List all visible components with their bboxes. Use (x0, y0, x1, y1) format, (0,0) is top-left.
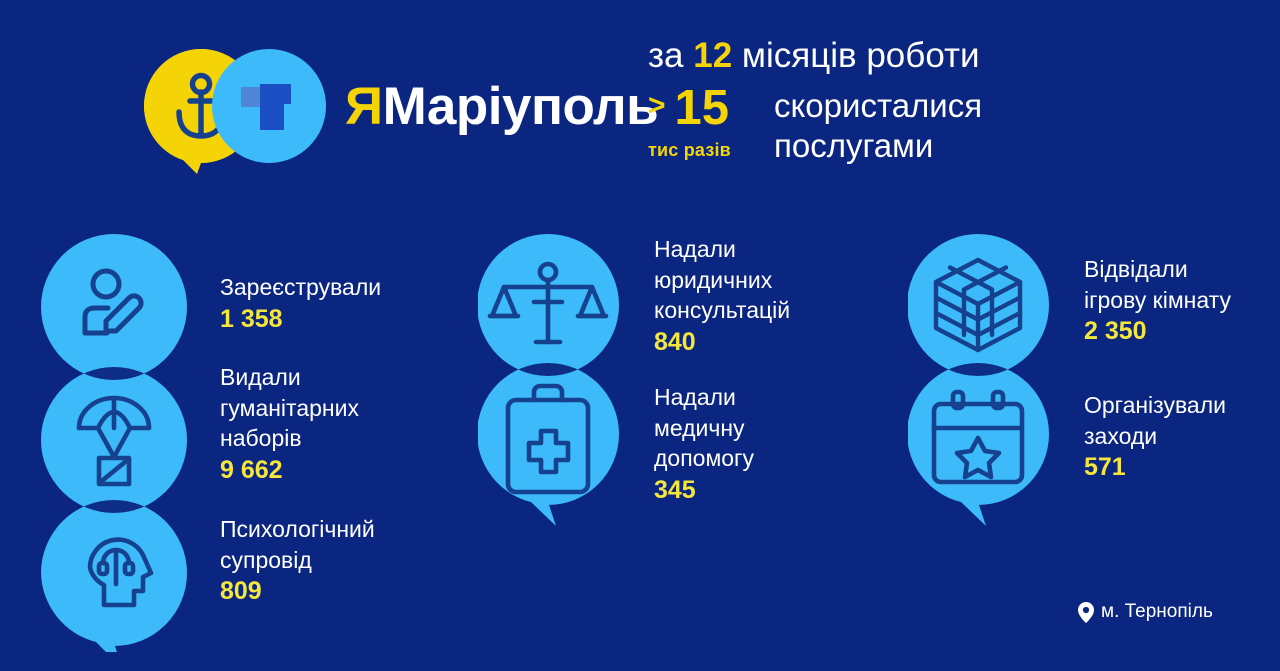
stat-item: Відвідали ігрову кімнату 2 350 (1084, 254, 1231, 347)
stat-label: супровід (220, 545, 375, 576)
stat-item: Психологічний супровід 809 (220, 514, 375, 607)
emblem-svg (140, 46, 330, 174)
bubble-stack-middle-svg (478, 232, 663, 532)
bubble-stack-middle (478, 232, 663, 537)
stat-value: 1 358 (220, 304, 381, 335)
stat-label: Надали (654, 234, 790, 265)
headline-usage-row: > 15 тис разів скористалися послугами (648, 84, 1068, 167)
stat-label: Психологічний (220, 514, 375, 545)
greater-than-icon: > (648, 91, 666, 121)
stat-label: Зареєстрували (220, 272, 381, 303)
bubble-right-2 (908, 363, 1049, 526)
stat-label: консультацій (654, 295, 790, 326)
headline-prefix: за (648, 36, 693, 75)
bubble-stack-right-svg (908, 232, 1093, 532)
usage-description-line2: послугами (774, 126, 982, 166)
stat-label: медичну (654, 413, 754, 444)
headline-block: за 12 місяців роботи > 15 тис разів скор… (648, 38, 1068, 166)
watertower-circle (212, 49, 326, 163)
location-city: м. Тернопіль (1101, 601, 1213, 623)
stat-label: юридичних (654, 265, 790, 296)
stat-label: заходи (1084, 421, 1226, 452)
stat-item: Видали гуманітарних наборів 9 662 (220, 362, 359, 486)
location-footer: м. Тернопіль (1078, 601, 1213, 623)
usage-count-block: > 15 тис разів (648, 84, 774, 161)
brand-wordmark: ЯМаріуполь (345, 80, 658, 133)
bubble-stack-left-svg (38, 232, 223, 652)
usage-description-line1: скористалися (774, 86, 982, 126)
stat-item: Організували заходи 571 (1084, 390, 1226, 483)
stat-item: Зареєстрували 1 358 (220, 272, 381, 335)
headline-suffix: місяців роботи (732, 36, 979, 75)
stat-value: 840 (654, 327, 790, 358)
usage-count: > 15 (648, 84, 774, 133)
stat-label: наборів (220, 423, 359, 454)
bubble-stack-left (38, 232, 223, 657)
headline-months-number: 12 (693, 36, 732, 75)
infographic-page: ЯМаріуполь за 12 місяців роботи > 15 тис… (0, 0, 1280, 671)
usage-unit: тис разів (648, 140, 774, 161)
stat-value: 9 662 (220, 455, 359, 486)
stat-label: Відвідали (1084, 254, 1231, 285)
stat-label: ігрову кімнату (1084, 285, 1231, 316)
bubble-left-2 (41, 367, 187, 513)
stat-label: Надали (654, 382, 754, 413)
stat-item: Надали медичну допомогу 345 (654, 382, 754, 506)
stat-label: допомогу (654, 443, 754, 474)
stat-value: 571 (1084, 452, 1226, 483)
bubble-stack-right (908, 232, 1093, 537)
stat-value: 2 350 (1084, 316, 1231, 347)
usage-number: 15 (675, 84, 730, 133)
usage-description: скористалися послугами (774, 84, 982, 167)
location-pin-icon (1078, 602, 1094, 623)
brand-name: Маріуполь (383, 77, 659, 136)
headline-period: за 12 місяців роботи (648, 38, 1068, 75)
yamariupol-emblem (140, 46, 330, 174)
stat-label: гуманітарних (220, 393, 359, 424)
brand-accent-letter: Я (345, 77, 383, 136)
stat-item: Надали юридичних консультацій 840 (654, 234, 790, 358)
stat-label: Організували (1084, 390, 1226, 421)
stat-label: Видали (220, 362, 359, 393)
bubble-left-1 (41, 234, 187, 380)
stat-value: 345 (654, 475, 754, 506)
brand-logo: ЯМаріуполь (140, 46, 610, 174)
stat-value: 809 (220, 576, 375, 607)
